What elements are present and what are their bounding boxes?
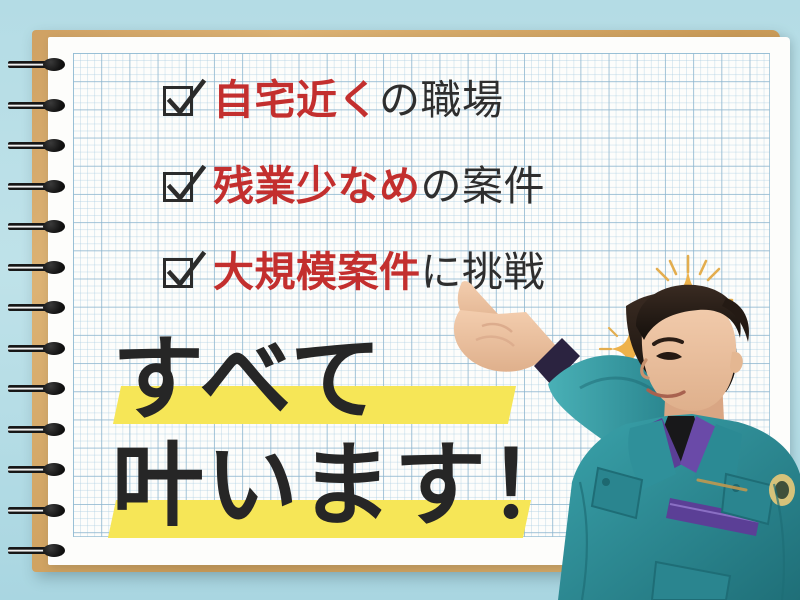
spiral-ring-knob xyxy=(43,423,65,436)
spiral-ring-knob xyxy=(43,99,65,112)
banner-canvas: 自宅近くの職場残業少なめの案件大規模案件に挑戦 すべて 叶います！ xyxy=(0,0,800,600)
spiral-ring-knob xyxy=(43,382,65,395)
checklist-highlight-text: 残業少なめ xyxy=(213,162,421,210)
checklist-text: 残業少なめの案件 xyxy=(213,166,545,207)
spiral-ring-knob xyxy=(43,58,65,71)
checklist-text: 自宅近くの職場 xyxy=(213,80,504,121)
spiral-ring-knob xyxy=(43,342,65,355)
spiral-binding xyxy=(0,0,120,600)
checkbox-checked-icon[interactable] xyxy=(163,254,199,290)
spiral-ring-knob xyxy=(43,544,65,557)
slogan-line-1: すべて xyxy=(112,330,552,436)
spiral-ring-knob xyxy=(43,180,65,193)
slogan-text-1: すべて xyxy=(112,330,552,430)
checklist-row: 自宅近くの職場 xyxy=(163,57,683,143)
spiral-ring-knob xyxy=(43,139,65,152)
checklist-normal-text: の職場 xyxy=(379,76,504,124)
spiral-ring-knob xyxy=(43,504,65,517)
slogan: すべて 叶います！ xyxy=(112,330,552,542)
checkbox-checked-icon[interactable] xyxy=(163,168,199,204)
spiral-ring-knob xyxy=(43,220,65,233)
slogan-text-2: 叶います！ xyxy=(112,436,552,536)
spiral-ring-knob xyxy=(43,463,65,476)
spiral-ring-knob xyxy=(43,261,65,274)
slogan-line-2: 叶います！ xyxy=(112,436,552,542)
checklist-normal-text: の案件 xyxy=(421,162,546,210)
checklist-highlight-text: 大規模案件 xyxy=(213,248,421,296)
checklist-highlight-text: 自宅近く xyxy=(213,76,379,124)
checklist-row: 残業少なめの案件 xyxy=(163,143,683,229)
spiral-ring-knob xyxy=(43,301,65,314)
checkbox-checked-icon[interactable] xyxy=(163,82,199,118)
